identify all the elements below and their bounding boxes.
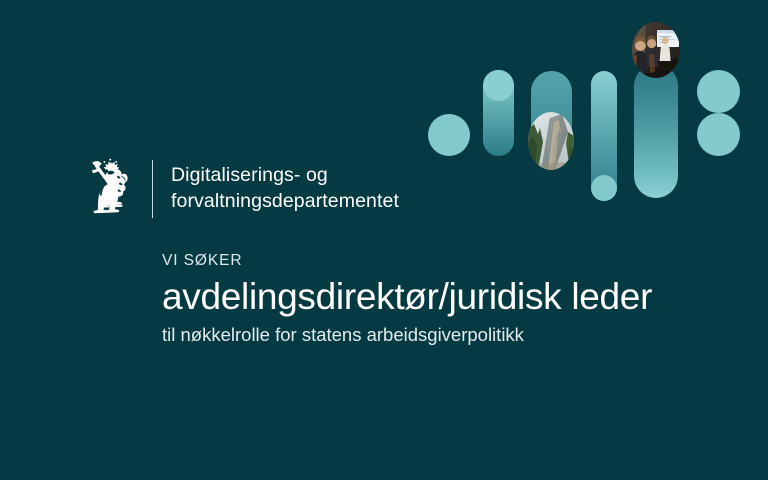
job-ad-copy: VI SØKER avdelingsdirektør/juridisk lede… (162, 252, 722, 347)
circle-solid-1 (428, 114, 470, 156)
department-logo-lockup: Digitaliserings- og forvaltningsdepartem… (88, 158, 399, 220)
pill-gradient-2-cap (483, 70, 514, 101)
circle-solid-6 (697, 70, 740, 113)
department-name: Digitaliserings- og forvaltningsdepartem… (171, 163, 399, 214)
eyebrow-label: VI SØKER (162, 252, 722, 270)
pill-gradient-4 (591, 71, 617, 201)
job-subtitle: til nøkkelrolle for statens arbeidsgiver… (162, 323, 722, 347)
norwegian-coat-of-arms-lion-icon (88, 158, 132, 220)
job-ad-poster: Digitaliserings- og forvaltningsdepartem… (0, 0, 768, 480)
photo-building-facade (528, 112, 574, 170)
pill-gradient-3 (531, 71, 572, 159)
circle-solid-7 (697, 113, 740, 156)
job-title-headline: avdelingsdirektør/juridisk leder (162, 276, 722, 317)
pill-gradient-5 (634, 64, 678, 198)
pill-gradient-4-cap (591, 175, 617, 201)
logo-divider (152, 160, 153, 218)
pill-gradient-2 (483, 70, 514, 156)
photo-meeting-presentation (632, 22, 680, 78)
